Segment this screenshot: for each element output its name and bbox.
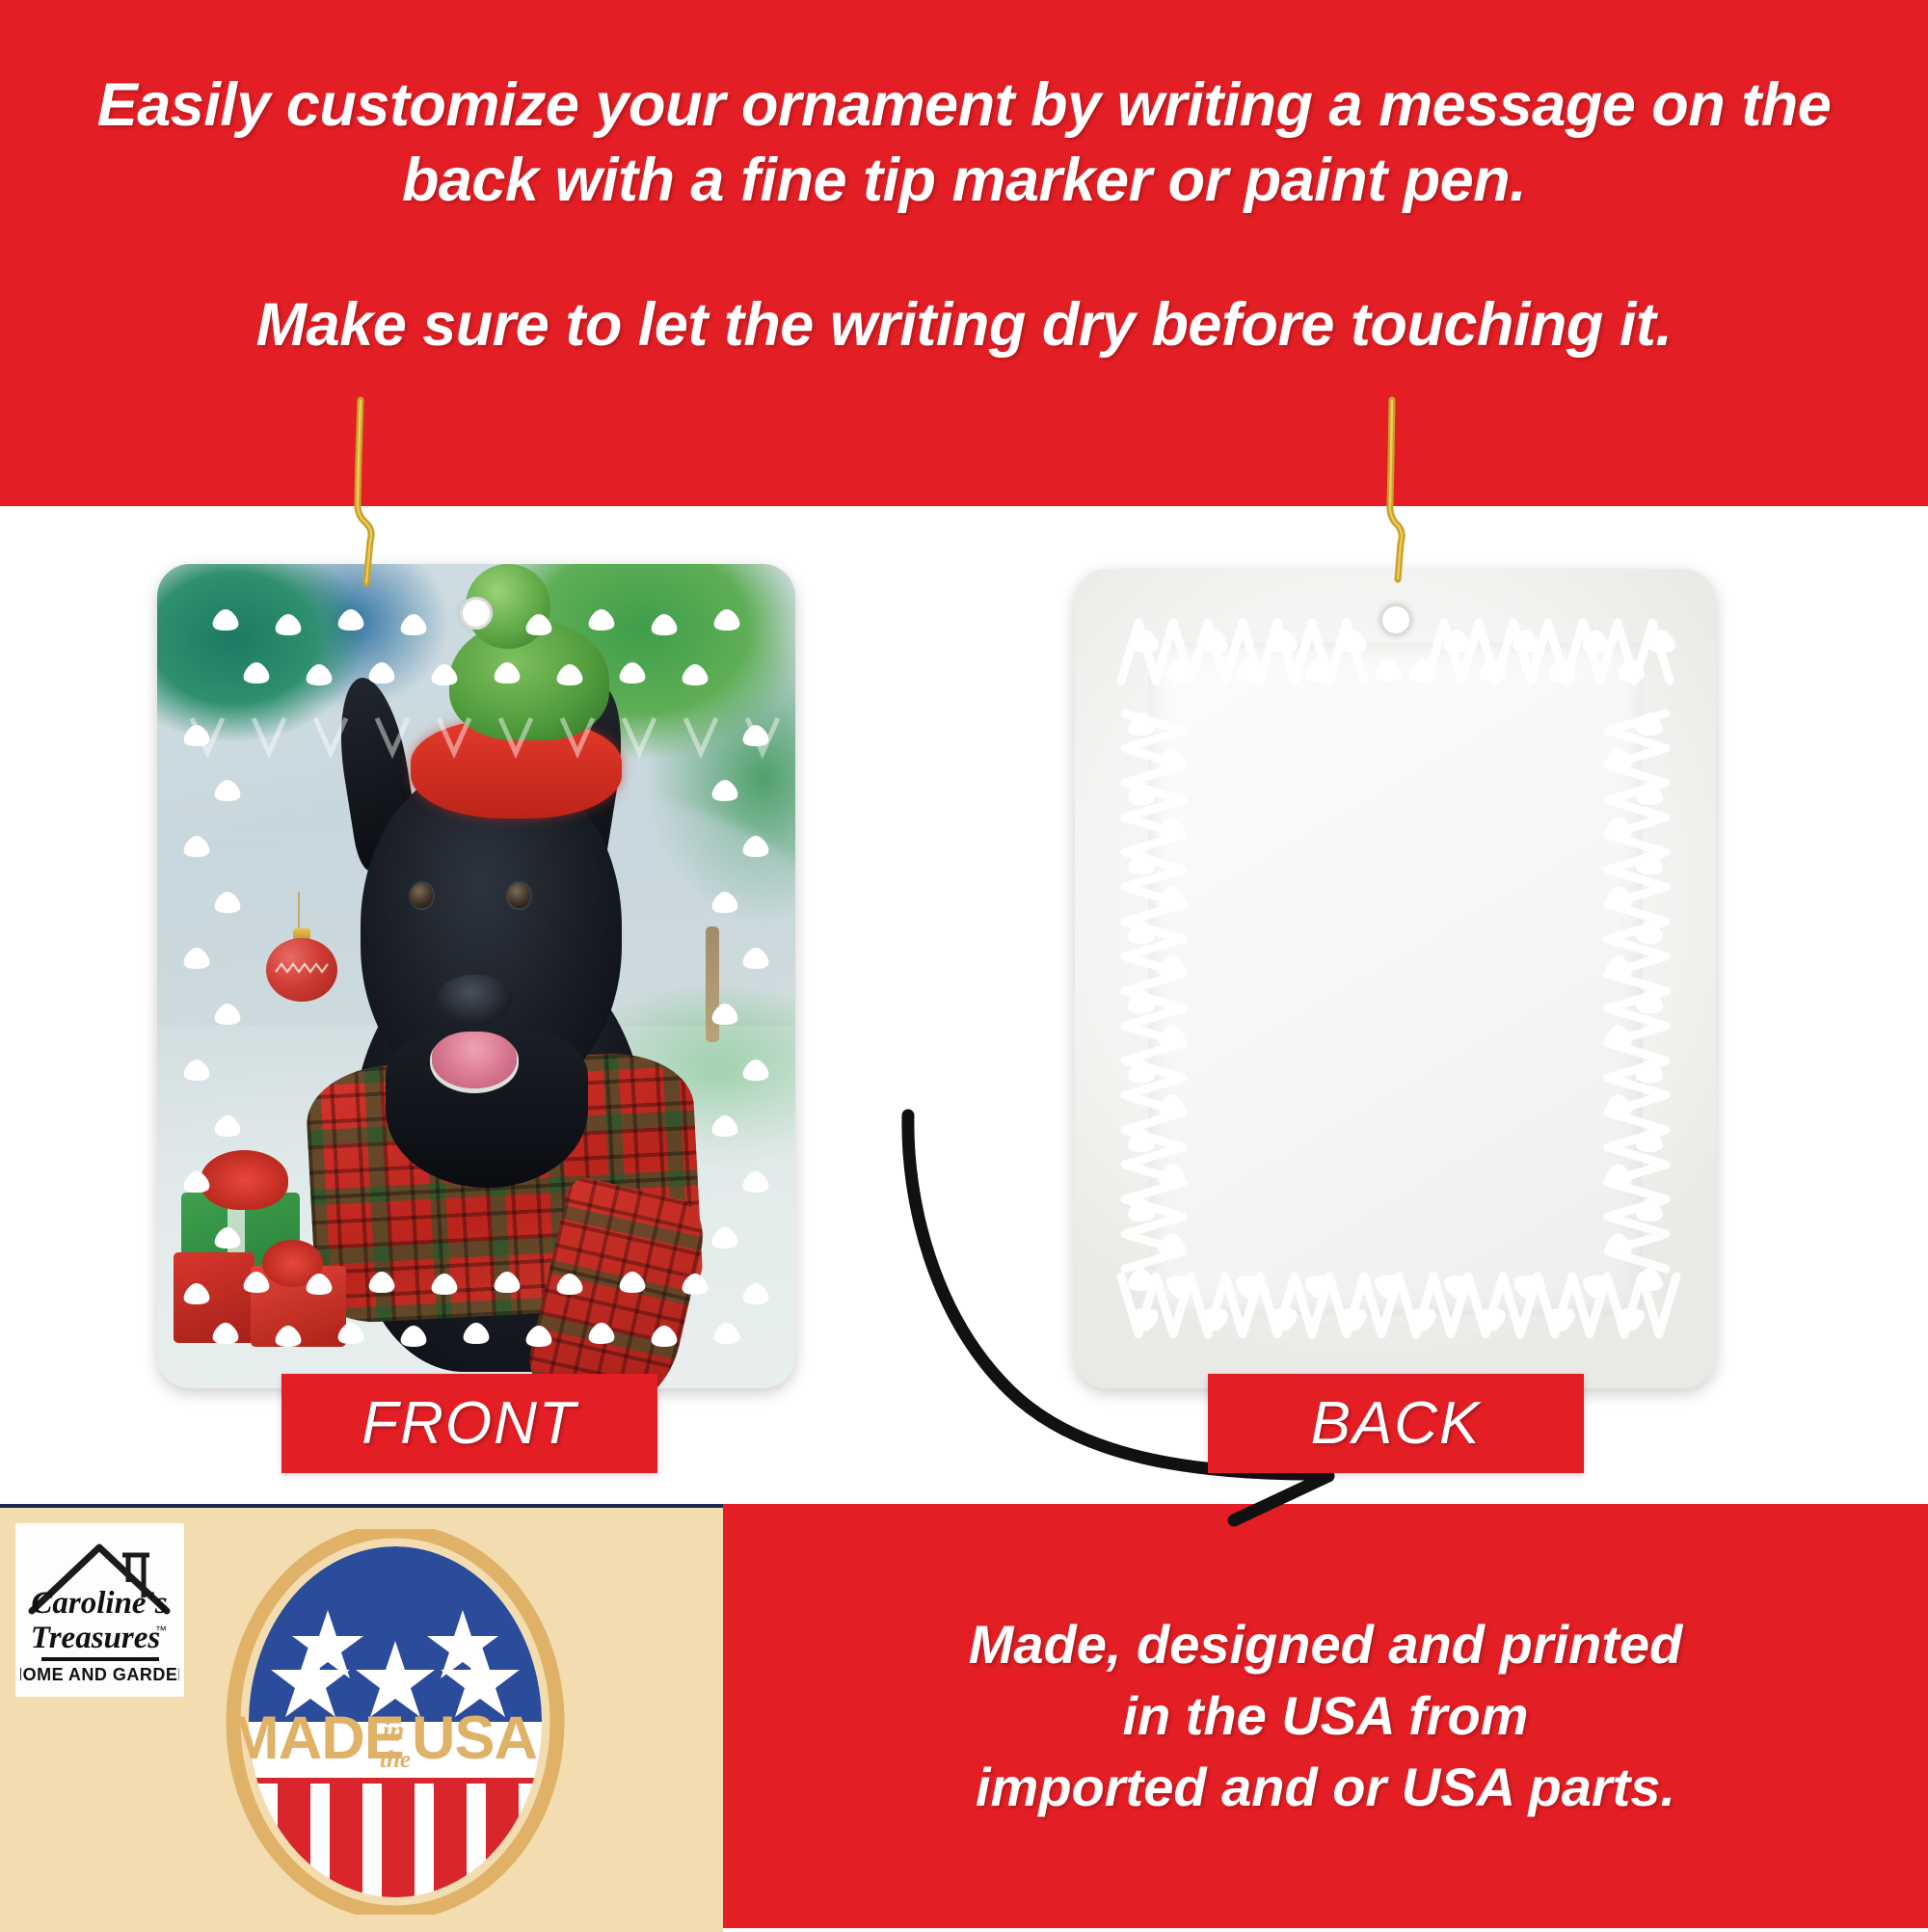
hanging-cord-front [345,400,361,593]
front-label-tag: FRONT [281,1374,657,1473]
product-photo-area [0,506,1928,1504]
banner-paragraph-1: Easily customize your ornament by writin… [96,67,1832,218]
hanger-hole-back [1379,604,1412,636]
svg-text:Treasures: Treasures [31,1621,160,1655]
gift-boxes [170,1133,361,1347]
usa-line-1: Made, designed and printed [805,1609,1846,1680]
made-in-usa-badge: MADE in the USA [193,1529,598,1915]
gift-bow-top [201,1150,288,1210]
badge-in-text: in [383,1716,405,1745]
hanging-cord-back [1373,400,1388,593]
ornament-front[interactable] [157,564,795,1388]
dog-snout [437,975,513,1024]
instruction-banner: Easily customize your ornament by writin… [0,0,1928,506]
dog-eye-left [411,883,433,908]
carolines-treasures-logo: Caroline's Treasures ™ HOME AND GARDEN [15,1523,184,1697]
hanger-hole-front [460,597,493,630]
banner-paragraph-2: Make sure to let the writing dry before … [96,287,1832,362]
tree-trunk [706,926,719,1042]
usa-line-2: in the USA from [805,1680,1846,1752]
badge-the-text: the [380,1747,411,1773]
gift-bow-lower [262,1240,324,1287]
back-label-tag: BACK [1208,1374,1584,1473]
usa-line-3: imported and or USA parts. [805,1752,1846,1823]
badge-usa-text: USA [412,1704,537,1772]
svg-text:HOME AND GARDEN: HOME AND GARDEN [20,1665,179,1684]
brand-name-line1: Caroline's [31,1586,167,1621]
usa-statement-text: Made, designed and printed in the USA fr… [805,1609,1846,1823]
svg-text:™: ™ [155,1623,167,1637]
footer-usa-statement: Made, designed and printed in the USA fr… [723,1504,1928,1928]
footer-strip: Caroline's Treasures ™ HOME AND GARDEN [0,1504,1928,1928]
gift-box-red-left [174,1252,254,1342]
watercolor-christmas-scene [157,564,795,1388]
dog-eye-right [508,883,530,908]
front-label-text: FRONT [361,1389,577,1458]
product-infographic: Easily customize your ornament by writin… [0,0,1928,1928]
dog-tongue [432,1032,516,1088]
badge-made-text: MADE [228,1704,404,1772]
back-label-text: BACK [1311,1389,1482,1458]
footer-brand-area: Caroline's Treasures ™ HOME AND GARDEN [0,1504,723,1932]
